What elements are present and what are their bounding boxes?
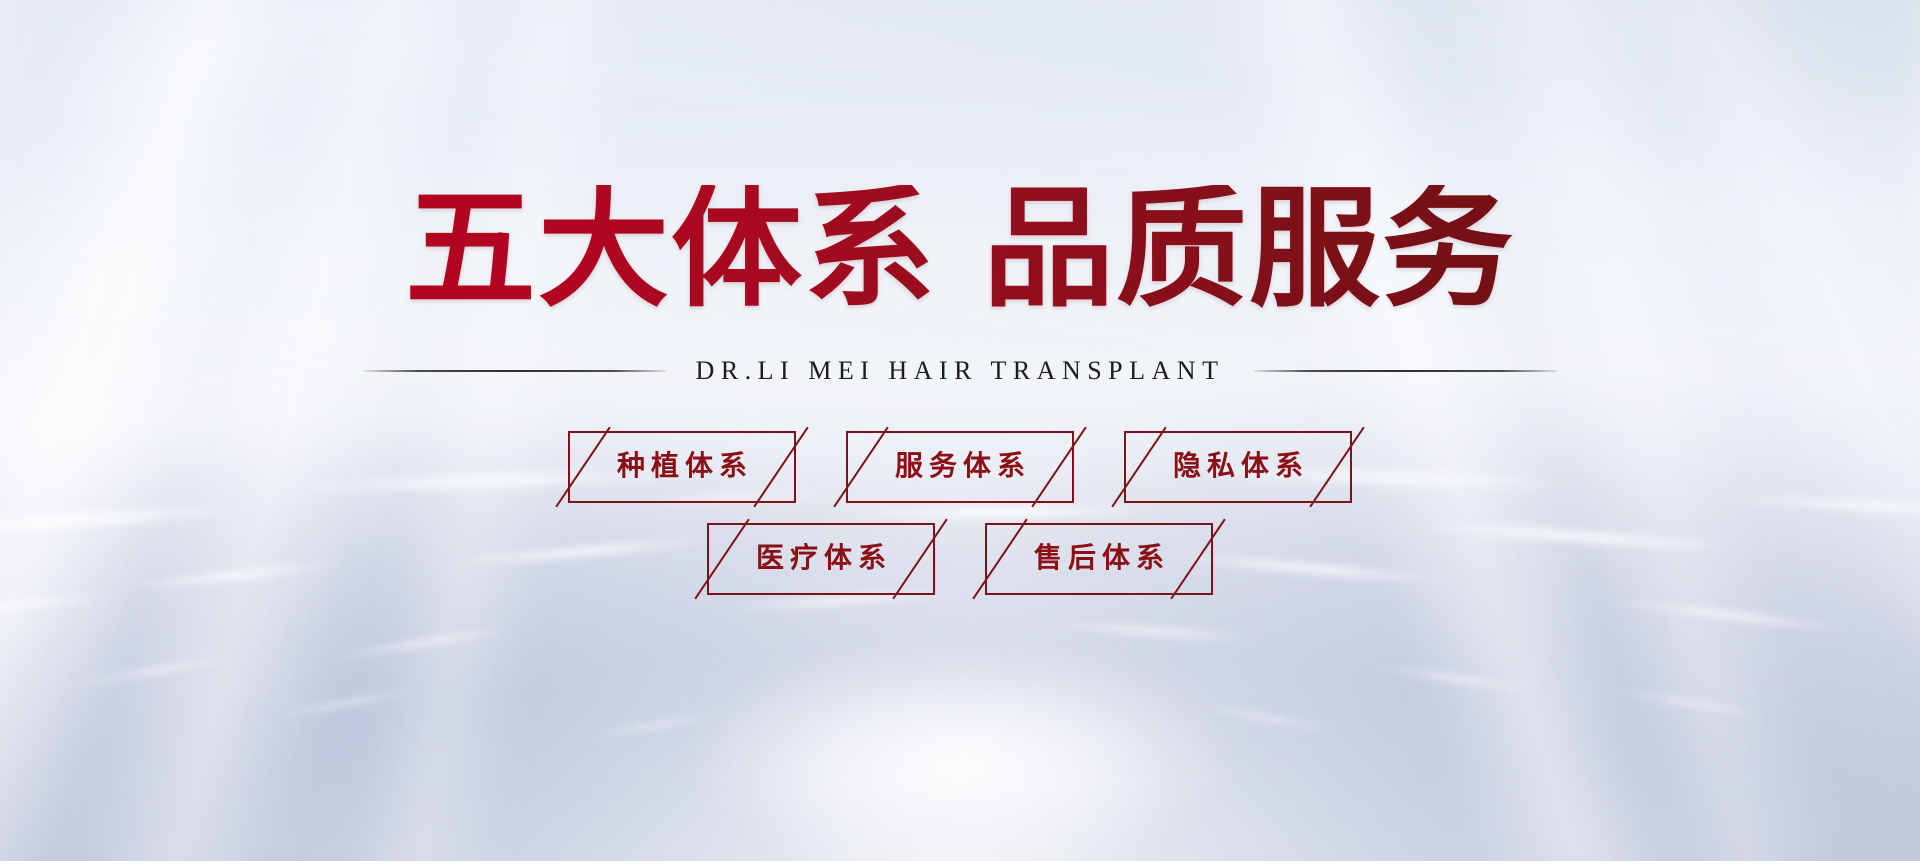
system-tag[interactable]: 种植体系 [568,431,796,503]
system-tag-label: 种植体系 [611,453,753,481]
slash-right-icon [1170,519,1225,600]
slash-left-icon [555,427,610,508]
system-tag[interactable]: 售后体系 [985,523,1213,595]
subtitle-rule-left [364,370,666,372]
slash-left-icon [972,519,1027,600]
system-tag[interactable]: 医疗体系 [707,523,935,595]
system-tag-label: 售后体系 [1028,545,1170,573]
slash-left-icon [694,519,749,600]
page-title: 五大体系品质服务 [405,185,1515,316]
promo-banner: 五大体系品质服务 DR.LI MEI HAIR TRANSPLANT 种植体系服… [0,0,1920,861]
system-tag[interactable]: 隐私体系 [1124,431,1352,503]
system-tag-label: 医疗体系 [750,545,892,573]
slash-left-icon [833,427,888,508]
system-tag-label: 服务体系 [889,453,1031,481]
headline-part-right: 品质服务 [983,178,1515,323]
slash-right-icon [753,427,808,508]
subtitle-row: DR.LI MEI HAIR TRANSPLANT [364,356,1556,386]
system-tag-list: 种植体系服务体系隐私体系医疗体系售后体系 [568,431,1352,595]
system-tag-row: 医疗体系售后体系 [707,523,1213,595]
banner-content: 五大体系品质服务 DR.LI MEI HAIR TRANSPLANT 种植体系服… [0,0,1920,861]
system-tag-label: 隐私体系 [1167,453,1309,481]
subtitle-text: DR.LI MEI HAIR TRANSPLANT [692,356,1229,386]
subtitle-rule-right [1254,370,1556,372]
headline-part-left: 五大体系 [405,178,937,323]
slash-left-icon [1111,427,1166,508]
slash-right-icon [1031,427,1086,508]
slash-right-icon [1309,427,1364,508]
slash-right-icon [892,519,947,600]
system-tag[interactable]: 服务体系 [846,431,1074,503]
system-tag-row: 种植体系服务体系隐私体系 [568,431,1352,503]
